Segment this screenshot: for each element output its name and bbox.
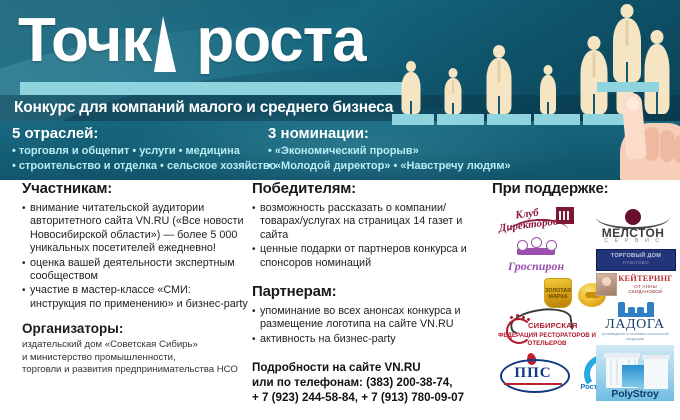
logo-melston: МЕЛСТОН С Е Р В И С [594,207,672,245]
polystroy-wordmark-text: PolyStroy [611,388,658,400]
melston-dot-icon [625,209,641,225]
figure-tie [452,80,454,94]
participants-bullet-list: внимание читательской аудитории авторите… [22,202,250,311]
list-item: ценные подарки от партнеров конкурса и с… [252,243,488,270]
grospiron-wordmark: Гроспирон [504,259,568,274]
figure-tie [626,20,629,46]
sectors-heading: 5 отраслей: [12,124,276,143]
hand-knuckle-1 [644,127,659,161]
title-text-part2: роста [196,10,365,72]
contact-line-2: или по телефонам: (383) 200-38-74, [252,375,488,390]
list-item: активность на бизнес-party [252,333,488,346]
support-heading: При поддержке: [492,180,674,198]
partners-heading: Партнерам: [252,283,488,301]
column-participants: Участникам: внимание читательской аудито… [22,180,250,377]
grospiron-crown-icon [517,243,555,259]
polystroy-roof-right [642,355,670,359]
gold-shield-icon: ЗОЛОТАЯ МАРКА [544,278,572,308]
title-underline-bar [20,82,385,95]
katering-wordmark: КЕЙТЕРИНГ [617,274,674,283]
upward-arrow-letter-i-icon [152,8,178,72]
organizers-line-3: торговли и развития предпринимательства … [22,364,250,377]
partners-bullet-list: упоминание во всех анонсах конкурса и ра… [252,305,488,346]
logo-ladoga: ЛАДОГА производство и поставка алкогольн… [596,299,674,343]
ladoga-crown-icon [618,299,654,317]
federatsiya-subtext: ФЕДЕРАЦИЯ РЕСТОРАТОРОВ И ОТЕЛЬЕРОВ [496,332,598,347]
pps-underline [504,383,562,385]
logo-pps: ППС [500,353,566,391]
poster-header: Точк роста Конкурс для компаний малого и… [0,0,680,180]
ladoga-wordmark: ЛАДОГА [596,317,674,333]
figure-tie [593,52,596,77]
organizers-heading: Организаторы: [22,320,250,337]
person-figure-1 [399,61,423,114]
figure-head [449,68,458,78]
pps-wordmark: ППС [500,365,566,382]
winners-bullet-list: возможность рассказать о компании/товара… [252,202,488,270]
figure-leg-split [547,102,549,114]
organizers-line-1: издательский дом «Советская Сибирь» [22,339,250,352]
hand-knuckle-2 [660,130,674,162]
sectors-line-2: • строительство и отделка • сельское хоз… [12,159,276,174]
band-column-sectors: 5 отраслей: • торговля и общепит • услуг… [12,124,276,173]
katering-subtext: ОТ АННЫ СКИДАНОВОЙ [617,284,674,294]
person-figure-4 [537,65,559,114]
melston-subtext: С Е Р В И С [594,238,672,244]
polystroy-wordmark: PolyStroy [596,388,674,400]
figure-head [493,45,505,58]
logo-katering: КЕЙТЕРИНГ ОТ АННЫ СКИДАНОВОЙ [596,273,674,295]
contact-line-1: Подробности на сайте VN.RU [252,360,488,375]
katering-portrait-photo [596,273,617,296]
person-figure-2 [442,68,464,114]
title-text-part1: Точк [18,10,151,72]
column-winners-partners: Победителям: возможность рассказать о ко… [252,180,488,405]
torgoviy-dom-subtext: ПАВЛОВО [597,260,675,265]
figure-leg-split [626,62,628,82]
federatsiya-wordmark: СИБИРСКАЯ [528,321,578,330]
hand-knuckle-3 [674,135,680,163]
column-support: При поддержке: Клуб Директоров [492,180,674,405]
poster-title: Точк роста [18,8,366,72]
participants-heading: Участникам: [22,180,250,198]
band-column-nominations: 3 номинации: • «Экономический прорыв» • … [268,124,511,173]
winners-heading: Победителям: [252,180,488,198]
polystroy-column [610,359,612,385]
gold-emblem-text: ЗОЛОТАЯ МАРКА [545,288,571,300]
ladoga-subtext: производство и поставка алкогольной прод… [596,332,674,342]
logo-polystroy: PolyStroy [596,345,674,401]
person-figure-5 [578,36,610,114]
torgoviy-dom-wordmark: ТОРГОВЫЙ ДОМ [597,253,675,259]
figure-leg-split [593,94,595,114]
figure-head [621,4,634,18]
nominations-heading: 3 номинации: [268,124,511,143]
list-item: возможность рассказать о компании/товара… [252,202,488,242]
list-item: участие в мастер-классе «СМИ: инструкция… [22,284,250,311]
poster-root: Точк роста Конкурс для компаний малого и… [0,0,680,420]
logo-sibirskaya-federatsiya: СИБИРСКАЯ ФЕДЕРАЦИЯ РЕСТОРАТОРОВ И ОТЕЛЬ… [494,309,598,349]
poster-subtitle: Конкурс для компаний малого и среднего б… [14,99,393,117]
logo-klub-direktorov: Клуб Директоров [498,207,574,241]
person-figure-3 [484,45,514,114]
sponsor-logo-grid: Клуб Директоров Гроспирон [492,205,674,405]
nominations-line-1: • «Экономический прорыв» [268,144,511,159]
list-item: упоминание во всех анонсах конкурса и ра… [252,305,488,332]
figure-tie [498,60,501,82]
nominations-line-2: • «Молодой директор» • «Навстречу людям» [268,159,511,174]
organizers-block: Организаторы: издательский дом «Советска… [22,320,250,377]
federatsiya-dots-icon [510,316,530,322]
logo-grospiron: Гроспирон [504,243,568,277]
poster-content: Участникам: внимание читательской аудито… [0,180,680,420]
polystroy-building-right [644,359,668,389]
organizers-line-2: и министерство промышленности, [22,352,250,365]
figure-head [406,61,416,72]
pedestal-4 [534,114,580,125]
winner-pedestal [597,82,659,92]
list-item: оценка вашей деятельности экспертным соо… [22,257,250,284]
sectors-line-1: • торговля и общепит • услуги • медицина [12,144,276,159]
pointing-finger-hand-icon [612,97,680,180]
polystroy-column [616,359,618,385]
list-item: внимание читательской аудитории авторите… [22,202,250,256]
figure-leg-split [498,96,500,114]
figure-head [651,30,664,44]
logo-gold-emblem-1: ЗОЛОТАЯ МАРКА [542,277,572,307]
figure-head [588,36,601,50]
person-figure-winner [610,4,644,82]
figure-leg-split [410,101,412,114]
logo-torgoviy-dom: ТОРГОВЫЙ ДОМ ПАВЛОВО [596,249,676,271]
contact-block: Подробности на сайте VN.RU или по телефо… [252,360,488,405]
contact-line-3: + 7 (923) 244-58-84, + 7 (913) 780-09-07 [252,390,488,405]
figure-head [544,65,553,75]
polystroy-blue-block [622,365,644,387]
figure-leg-split [452,103,454,114]
